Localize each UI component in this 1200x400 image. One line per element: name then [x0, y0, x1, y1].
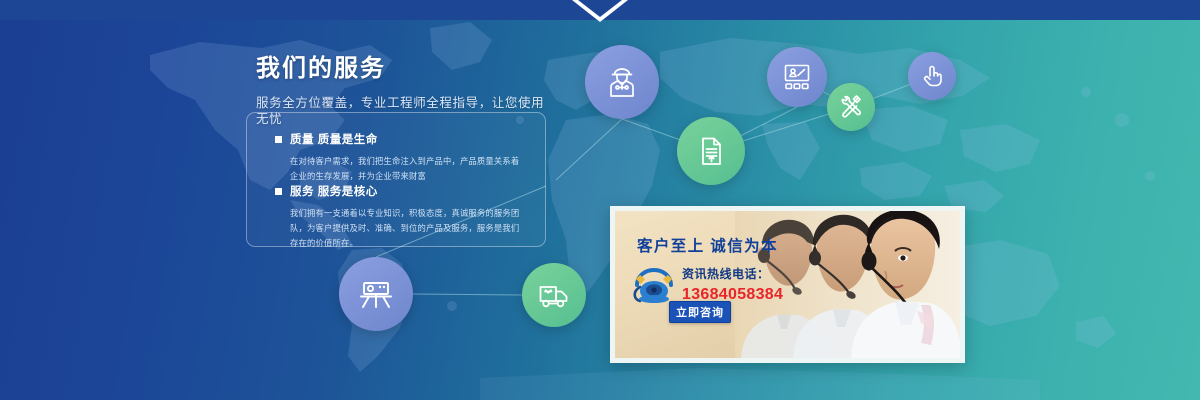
service-point-heading: 质量 质量是生命 [275, 131, 525, 147]
delivery-truck-icon [537, 278, 571, 312]
tools-icon [837, 93, 865, 121]
service-points-box: 质量 质量是生命 在对待客户需求，我们把生命注入到产品中，产品质量关系着企业的生… [246, 112, 546, 247]
service-point-quality: 质量 质量是生命 在对待客户需求，我们把生命注入到产品中，产品质量关系着企业的生… [275, 131, 525, 184]
service-hero-banner: 我们的服务 服务全方位覆盖，专业工程师全程指导，让您使用无忧 质量 质量是生命 … [0, 0, 1200, 400]
service-point-heading-text: 质量 质量是生命 [290, 131, 378, 147]
page-title: 我们的服务 [256, 55, 556, 84]
node-delivery[interactable] [522, 263, 586, 327]
hotline-block: 资讯热线电话： 13684058384 [631, 265, 783, 305]
service-point-service: 服务 服务是核心 我们拥有一支通着以专业知识，积极态度，真诚服务的服务团队，为客… [275, 183, 525, 250]
node-engineer[interactable] [585, 45, 659, 119]
hotline-label: 资讯热线电话： [682, 267, 783, 282]
call-center-banner: 客户至上 诚信为本 资讯热线电话： 13684058384 [610, 206, 965, 363]
telephone-icon [631, 265, 677, 305]
chevron-down-notch-icon [0, 0, 1200, 22]
training-icon [781, 61, 813, 93]
survey-tripod-icon [355, 273, 397, 315]
hand-click-icon [919, 63, 945, 89]
consult-now-button[interactable]: 立即咨询 [669, 301, 731, 323]
service-point-body: 我们拥有一支通着以专业知识，积极态度，真诚服务的服务团队，为客户提供及时、准确、… [290, 206, 525, 250]
service-point-heading: 服务 服务是核心 [275, 183, 525, 199]
service-point-body: 在对待客户需求，我们把生命注入到产品中，产品质量关系着企业的生存发展，并为企业带… [290, 154, 525, 184]
bullet-square-icon [275, 136, 282, 143]
bullet-square-icon [275, 188, 282, 195]
node-tools[interactable] [827, 83, 875, 131]
engineer-icon [602, 62, 642, 102]
document-upload-icon [693, 133, 729, 169]
node-hand-click[interactable] [908, 52, 956, 100]
banner-slogan: 客户至上 诚信为本 [637, 234, 778, 256]
banner-inner: 客户至上 诚信为本 资讯热线电话： 13684058384 [615, 211, 960, 358]
service-point-heading-text: 服务 服务是核心 [290, 183, 378, 199]
node-survey[interactable] [339, 257, 413, 331]
node-training[interactable] [767, 47, 827, 107]
node-document[interactable] [677, 117, 745, 185]
